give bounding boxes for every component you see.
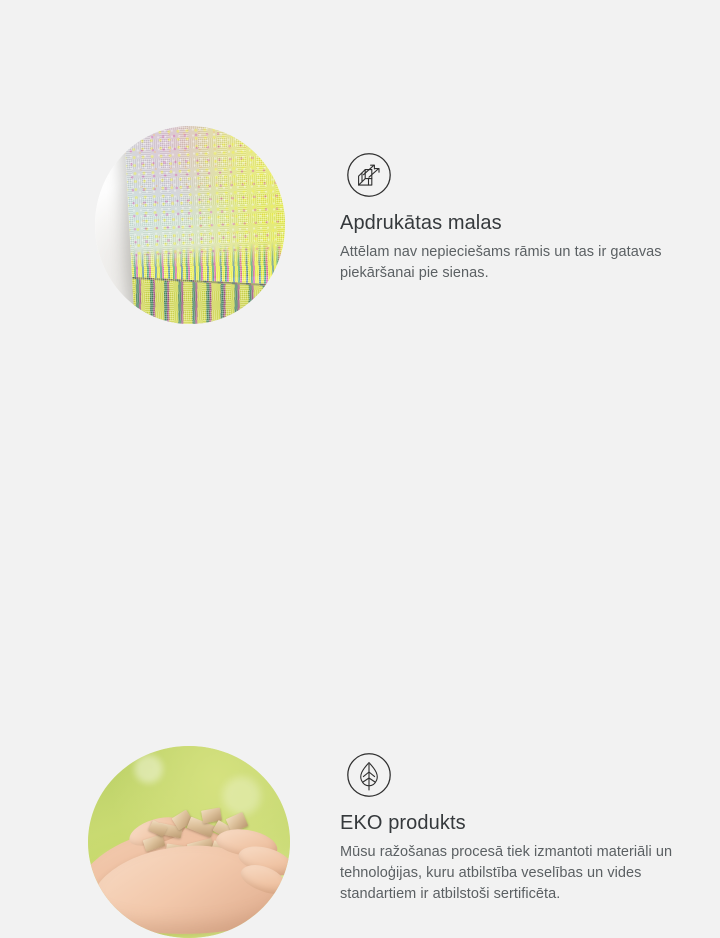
hands-wood-chips-photo	[88, 746, 290, 938]
feature-description: Mūsu ražošanas procesā tiek izmantoti ma…	[340, 842, 680, 905]
canvas-photo-backdrop	[95, 126, 285, 324]
product-features-panel: Apdrukātas malas Attēlam nav nepieciešam…	[0, 0, 720, 720]
feature-block-printed-edges: Apdrukātas malas Attēlam nav nepieciešam…	[0, 0, 720, 360]
canvas-folded-edge-icon	[346, 152, 392, 198]
feature-description: Attēlam nav nepieciešams rāmis un tas ir…	[340, 242, 680, 284]
canvas-corner-artwork	[124, 126, 285, 324]
canvas-corner-photo	[95, 126, 285, 324]
feature-block-eko-product: EKO produkts Mūsu ražošanas procesā tiek…	[0, 360, 720, 720]
feature-title: Apdrukātas malas	[340, 210, 690, 236]
feature-text-eko-product: EKO produkts Mūsu ražošanas procesā tiek…	[340, 810, 690, 905]
canvas-weave-texture	[124, 126, 285, 324]
meadow-backdrop	[88, 746, 290, 938]
feature-title: EKO produkts	[340, 810, 690, 836]
feature-text-printed-edges: Apdrukātas malas Attēlam nav nepieciešam…	[340, 210, 690, 284]
leaf-icon	[346, 752, 392, 798]
